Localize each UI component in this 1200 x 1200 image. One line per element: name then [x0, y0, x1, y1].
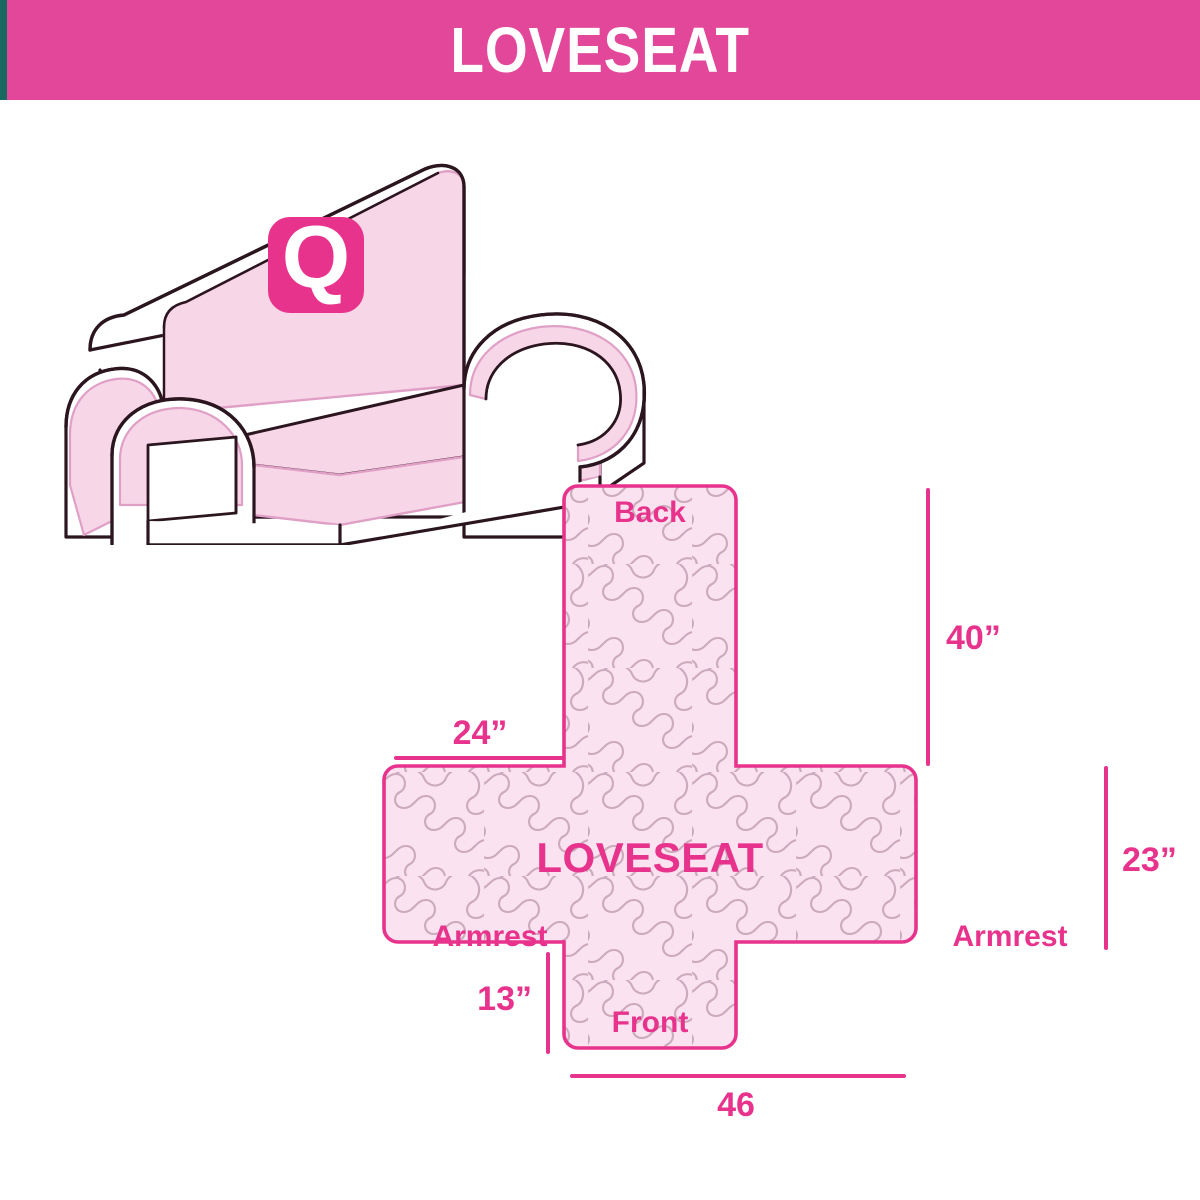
dimension-armrest-width: 24”	[396, 714, 562, 758]
product-dimension-infographic: LOVESEAT	[0, 0, 1200, 1200]
panel-label-front: Front	[612, 1006, 689, 1039]
cover-cross-shape	[384, 486, 916, 1048]
brand-logo: Q	[268, 207, 364, 313]
dimension-label-24: 24”	[453, 714, 508, 752]
flat-pattern-diagram: Back LOVESEAT Armrest Armrest Front 40” …	[380, 460, 1200, 1140]
dimension-label-13: 13”	[477, 980, 532, 1018]
dimension-back-height: 40”	[928, 490, 1001, 764]
dimension-label-23: 23”	[1122, 841, 1177, 879]
dimension-front-height: 13”	[477, 954, 548, 1052]
dimension-armrest-height: 23”	[1106, 768, 1177, 948]
panel-label-armrest-right: Armrest	[952, 920, 1067, 953]
dimension-front-width: 46	[572, 1076, 904, 1124]
panel-label-back: Back	[614, 496, 686, 529]
logo-letter: Q	[282, 207, 350, 306]
header-accent-stripe	[0, 0, 7, 100]
dimension-label-46: 46	[717, 1086, 755, 1124]
page-header: LOVESEAT	[0, 0, 1200, 100]
panel-label-center: LOVESEAT	[536, 834, 763, 881]
panel-label-armrest-left: Armrest	[432, 920, 547, 953]
page-title: LOVESEAT	[450, 18, 749, 82]
dimension-label-40: 40”	[946, 619, 1001, 657]
